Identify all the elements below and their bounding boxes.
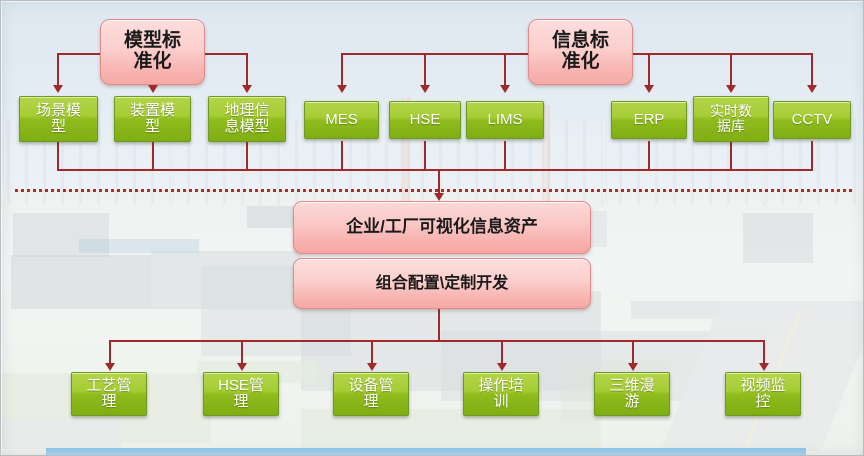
node-label: MES <box>325 112 358 128</box>
node-cctv[interactable]: CCTV <box>773 101 851 139</box>
node-label: ERP <box>634 112 665 128</box>
connector-app-drop-5 <box>632 340 634 365</box>
node-mes[interactable]: MES <box>304 101 379 139</box>
node-model-standardization[interactable]: 模型标 准化 <box>100 19 205 85</box>
arrow-down-cctv <box>807 85 817 93</box>
node-label-line2: 游 <box>624 394 639 410</box>
node-video-surveillance[interactable]: 视频监 控 <box>725 372 801 416</box>
node-3d-walkthrough[interactable]: 三维漫 游 <box>594 372 670 416</box>
connector-app-drop-6 <box>763 340 765 365</box>
node-label: HSE <box>410 112 441 128</box>
node-erp[interactable]: ERP <box>611 101 687 139</box>
node-label-line1: 设备管 <box>348 378 393 394</box>
node-realtime-db[interactable]: 实时数 据库 <box>693 96 769 142</box>
node-label-line2: 息模型 <box>224 119 269 135</box>
connector-app-drop-2 <box>241 340 243 365</box>
connector-up-lims <box>504 141 506 170</box>
connector-up-scene <box>57 141 59 170</box>
arrow-down-scene-model <box>53 85 63 93</box>
connector-up-hse <box>424 141 426 170</box>
connector-info-drop-lims <box>504 53 506 87</box>
arrow-down-3d-walkthrough <box>628 363 638 371</box>
connector-core-down <box>438 309 440 341</box>
node-label-line1: 操作培 <box>478 378 523 394</box>
arrow-down-to-core <box>434 193 444 201</box>
connector-up-mes <box>341 141 343 170</box>
connector-up-device <box>152 141 154 170</box>
node-lims[interactable]: LIMS <box>466 101 544 139</box>
node-label-line2: 理 <box>363 394 378 410</box>
connector-info-drop-mes <box>341 53 343 87</box>
node-label: LIMS <box>487 112 522 128</box>
node-visual-information-asset[interactable]: 企业/工厂可视化信息资产 <box>293 201 591 254</box>
connector-info-drop-erp <box>648 53 650 87</box>
node-label: 企业/工厂可视化信息资产 <box>346 218 538 236</box>
connector-info-drop-hse <box>424 53 426 87</box>
connector-up-rtdb <box>730 141 732 170</box>
node-label-line2: 理 <box>101 394 116 410</box>
node-label-line2: 型 <box>51 119 66 135</box>
diagram-canvas: 模型标 准化 信息标 准化 场景模 型 装置模 型 地理信 息模型 MES HS… <box>0 0 864 456</box>
connector-model-drop-3 <box>246 53 248 87</box>
node-label-line1: 模型标 <box>124 31 181 52</box>
connector-model-drop-1 <box>57 53 59 87</box>
connector-app-drop-4 <box>501 340 503 365</box>
node-process-management[interactable]: 工艺管 理 <box>71 372 147 416</box>
node-label-line2: 理 <box>233 394 248 410</box>
arrow-down-gis-model <box>242 85 252 93</box>
arrow-down-rtdb <box>726 85 736 93</box>
node-label-line1: 三维漫 <box>609 378 654 394</box>
node-label-line1: 装置模 <box>130 103 175 119</box>
arrow-down-device-model <box>148 85 158 93</box>
node-info-standardization[interactable]: 信息标 准化 <box>528 19 633 85</box>
node-label-line2: 准化 <box>133 52 171 73</box>
node-label-line1: 实时数 <box>710 104 752 119</box>
node-label-line2: 准化 <box>561 52 599 73</box>
connector-up-erp <box>648 141 650 170</box>
node-label-line1: 工艺管 <box>86 378 131 394</box>
node-hse-management[interactable]: HSE管 理 <box>203 372 279 416</box>
node-label-line2: 型 <box>145 119 160 135</box>
node-label-line2: 训 <box>493 394 508 410</box>
arrow-down-video-surveillance <box>759 363 769 371</box>
node-hse[interactable]: HSE <box>389 101 461 139</box>
connector-up-cctv <box>811 141 813 170</box>
connector-collector-bus <box>57 169 813 171</box>
arrow-down-equip-mgmt <box>367 363 377 371</box>
node-label: 组合配置\定制开发 <box>376 275 508 292</box>
node-equipment-management[interactable]: 设备管 理 <box>333 372 409 416</box>
section-separator-dotted <box>15 189 855 192</box>
node-label: CCTV <box>792 112 833 128</box>
connector-apps-bus <box>109 340 764 342</box>
node-label-line1: HSE管 <box>218 378 264 394</box>
node-operator-training[interactable]: 操作培 训 <box>463 372 539 416</box>
connector-app-drop-3 <box>371 340 373 365</box>
node-scene-model[interactable]: 场景模 型 <box>19 96 98 142</box>
connector-up-gis <box>246 141 248 170</box>
node-label-line2: 据库 <box>717 119 745 134</box>
arrow-down-hse-mgmt <box>237 363 247 371</box>
connector-info-drop-rtdb <box>730 53 732 87</box>
node-label-line1: 信息标 <box>552 31 609 52</box>
node-device-model[interactable]: 装置模 型 <box>114 96 191 142</box>
node-gis-model[interactable]: 地理信 息模型 <box>208 96 286 142</box>
connector-info-drop-cctv <box>811 53 813 87</box>
node-label-line1: 视频监 <box>740 378 785 394</box>
arrow-down-erp <box>644 85 654 93</box>
arrow-down-operator-training <box>497 363 507 371</box>
node-config-customization[interactable]: 组合配置\定制开发 <box>293 258 591 309</box>
node-label-line1: 场景模 <box>36 103 81 119</box>
arrow-down-mes <box>337 85 347 93</box>
connector-app-drop-1 <box>109 340 111 365</box>
arrow-down-lims <box>500 85 510 93</box>
arrow-down-process-mgmt <box>105 363 115 371</box>
arrow-down-hse <box>420 85 430 93</box>
node-label-line2: 控 <box>755 394 770 410</box>
connector-info-bus-right <box>629 53 813 55</box>
node-label-line1: 地理信 <box>224 103 269 119</box>
